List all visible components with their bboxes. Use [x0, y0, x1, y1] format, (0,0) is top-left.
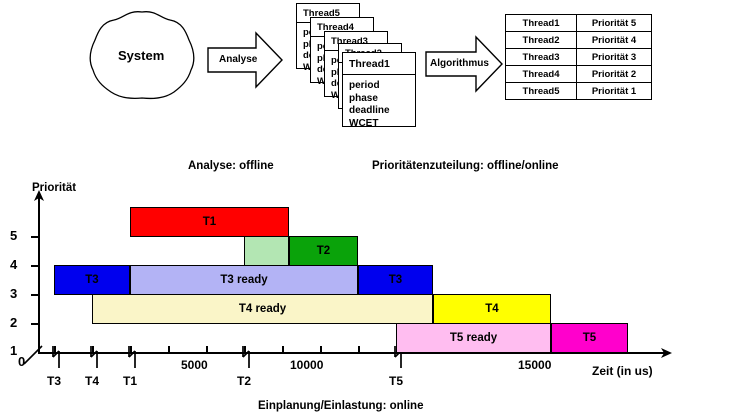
thread-field: period — [349, 80, 415, 93]
thread-cell: Thread3 — [506, 49, 577, 66]
analyse-arrow-label: Analyse — [219, 54, 257, 65]
y-axis-line — [38, 196, 40, 354]
priority-assignment-table: Thread1 Priorität 5 Thread2 Priorität 4 … — [505, 14, 652, 100]
axis-break-icon — [22, 344, 46, 366]
y-tick — [31, 294, 39, 296]
thread-card-title: Thread1 — [343, 53, 415, 75]
release-label-T3: T3 — [47, 374, 61, 388]
x-tick — [320, 346, 322, 353]
gantt-bar-T3-run-2: T3 — [358, 265, 433, 295]
x-tick — [358, 346, 360, 353]
release-marker-T4 — [88, 345, 104, 369]
y-axis-arrow-icon — [33, 190, 45, 202]
y-tick — [31, 323, 39, 325]
priority-cell: Priorität 2 — [577, 66, 652, 83]
release-label-T5: T5 — [389, 374, 403, 388]
x-tick — [168, 346, 170, 353]
x-tick — [206, 346, 208, 353]
thread-field: WCET — [349, 118, 415, 131]
gantt-bar-T2: T2 — [289, 236, 358, 266]
thread-cell: Thread5 — [506, 83, 577, 100]
release-label-T2: T2 — [237, 374, 251, 388]
thread-card-body: period phase deadline WCET — [343, 75, 415, 126]
x-tick-label: 15000 — [518, 358, 551, 372]
gantt-bar-T5: T5 — [551, 323, 628, 353]
release-marker-T2 — [240, 345, 256, 369]
thread-field: deadline — [349, 105, 415, 118]
release-marker-T3 — [50, 345, 66, 369]
gantt-bar-T3-ready: T3 ready — [130, 265, 358, 295]
table-row: Thread1 Priorität 5 — [506, 15, 652, 32]
gantt-bar-T2-ready — [244, 236, 289, 266]
table-row: Thread2 Priorität 4 — [506, 32, 652, 49]
thread-cell: Thread1 — [506, 15, 577, 32]
priority-cell: Priorität 3 — [577, 49, 652, 66]
schedule-gantt-chart: Priorität 5 4 3 2 1 0 5000 10000 15000 — [0, 180, 730, 395]
thread-cell: Thread2 — [506, 32, 577, 49]
table-row: Thread5 Priorität 1 — [506, 83, 652, 100]
thread-card-1: Thread1 period phase deadline WCET — [342, 52, 416, 127]
caption-scheduling: Einplanung/Einlastung: online — [258, 400, 423, 412]
y-tick — [31, 236, 39, 238]
x-tick — [282, 346, 284, 353]
y-tick — [31, 265, 39, 267]
y-tick-label: 1 — [10, 343, 17, 358]
x-axis-arrow-icon — [660, 347, 672, 359]
origin-label: 0 — [18, 354, 25, 369]
table-row: Thread4 Priorität 2 — [506, 66, 652, 83]
y-tick-label: 4 — [10, 257, 17, 272]
gantt-bar-T4-ready: T4 ready — [92, 294, 433, 324]
gantt-bar-T3-run-1: T3 — [54, 265, 130, 295]
release-label-T1: T1 — [123, 374, 137, 388]
y-tick-label: 5 — [10, 228, 17, 243]
algorithm-arrow-label: Algorithmus — [430, 58, 489, 69]
table-row: Thread3 Priorität 3 — [506, 49, 652, 66]
x-axis-label: Zeit (in us) — [592, 364, 653, 378]
y-tick-label: 3 — [10, 286, 17, 301]
priority-cell: Priorität 4 — [577, 32, 652, 49]
priority-cell: Priorität 1 — [577, 83, 652, 100]
system-label: System — [118, 48, 164, 63]
priority-cell: Priorität 5 — [577, 15, 652, 32]
x-tick-label: 5000 — [181, 358, 208, 372]
y-tick-label: 2 — [10, 315, 17, 330]
gantt-bar-T4: T4 — [433, 294, 551, 324]
thread-field: phase — [349, 93, 415, 106]
gantt-bar-T5-ready: T5 ready — [396, 323, 551, 353]
release-marker-T1 — [126, 345, 142, 369]
release-label-T4: T4 — [85, 374, 99, 388]
caption-analyse: Analyse: offline — [188, 160, 274, 172]
x-tick-label: 10000 — [290, 358, 323, 372]
gantt-bar-T1: T1 — [130, 207, 289, 237]
thread-cell: Thread4 — [506, 66, 577, 83]
caption-priority-assignment: Prioritätenzuteilung: offline/online — [372, 160, 559, 172]
